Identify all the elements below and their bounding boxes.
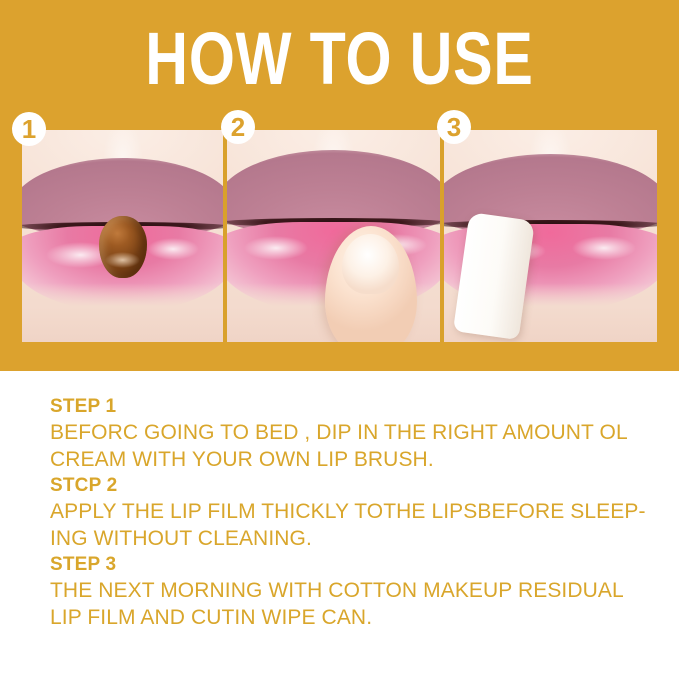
page-title: HOW TO USE — [68, 22, 611, 96]
step-image-1 — [22, 130, 223, 342]
step-2-heading: STCP 2 — [50, 473, 650, 498]
lip-gloss-highlight — [147, 238, 199, 260]
lip-gloss-highlight — [244, 236, 308, 260]
step-image-2 — [227, 130, 439, 342]
step-1-body: BEFORC GOING TO BED , DIP IN THE RIGHT A… — [50, 419, 650, 473]
how-to-use-infographic: HOW TO USE — [0, 0, 679, 679]
fingernail — [342, 234, 399, 294]
step-1-heading: STEP 1 — [50, 394, 650, 419]
step-badge-2: 2 — [221, 110, 255, 144]
lip-brush-head-icon — [99, 216, 147, 278]
step-3-heading: STEP 3 — [50, 552, 650, 577]
step-3-body: THE NEXT MORNING WITH COTTON MAKEUP RESI… — [50, 577, 650, 631]
step-badge-3: 3 — [437, 110, 471, 144]
lip-gloss-highlight — [572, 236, 636, 260]
photo-strip — [22, 130, 657, 342]
step-2-body: APPLY THE LIP FILM THICKLY TOTHE LIPSBEF… — [50, 498, 650, 552]
step-badge-1: 1 — [12, 112, 46, 146]
step-image-3 — [444, 130, 657, 342]
instructions-list: STEP 1 BEFORC GOING TO BED , DIP IN THE … — [50, 394, 650, 631]
lip-brush-handle — [116, 275, 130, 342]
